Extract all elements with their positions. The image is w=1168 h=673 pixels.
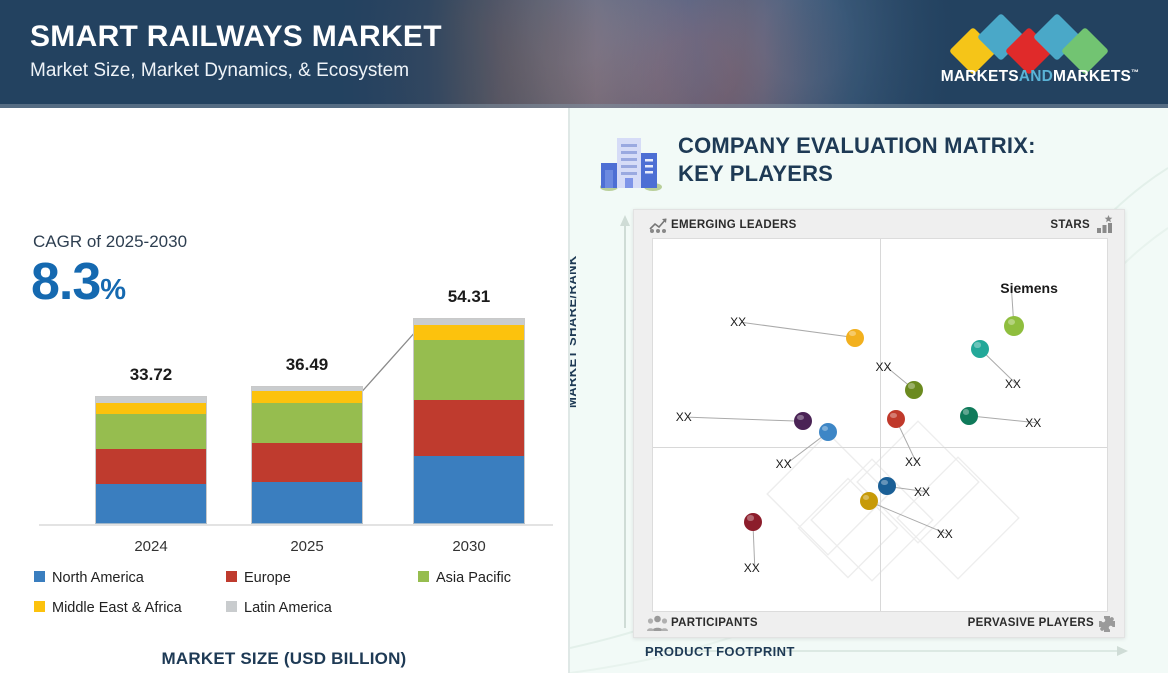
matrix-point-unnamed-8[interactable] [887,410,905,428]
legend-item-middle-east-africa[interactable]: Middle East & Africa [34,600,182,616]
matrix-x-axis-label: PRODUCT FOOTPRINT [645,644,795,659]
legend-item-asia-pacific[interactable]: Asia Pacific [418,570,511,586]
infographic-page: SMART RAILWAYS MARKET Market Size, Marke… [0,0,1168,673]
matrix-point-label-unnamed-7: XX [776,457,792,471]
legend-label: Latin America [244,600,332,616]
matrix-point-label-unnamed-5: XX [1025,416,1041,430]
matrix-point-unnamed-9[interactable] [878,477,896,495]
legend-item-latin-america[interactable]: Latin America [226,600,332,616]
bar-x-label-2024: 2024 [95,538,207,555]
quadrant-label-emerging-leaders: EMERGING LEADERS [671,219,797,231]
quadrant-label-participants: PARTICIPANTS [671,617,758,629]
growth-chart-people-icon [648,216,668,234]
bar-x-label-2030: 2030 [413,538,525,555]
matrix-point-unnamed-3[interactable] [971,340,989,358]
matrix-point-unnamed-5[interactable] [960,407,978,425]
matrix-point-siemens[interactable] [1004,316,1024,336]
legend-label: North America [52,570,144,586]
logo-wordmark: MARKETSANDMARKETS™ [940,68,1140,86]
legend-swatch [418,571,429,582]
marketsandmarkets-logo[interactable]: MARKETSANDMARKETS™ [940,12,1140,92]
bar-segment-north-america [95,484,207,524]
bar-2025 [251,386,363,524]
bar-x-label-2025: 2025 [251,538,363,555]
logo-text-markets-b: MARKETS [1053,68,1131,85]
matrix-point-unnamed-6[interactable] [794,412,812,430]
bar-segment-europe [251,443,363,482]
matrix-point-label-unnamed-1: XX [730,315,746,329]
quadrant-label-pervasive-players: PERVASIVE PLAYERS [968,617,1094,629]
matrix-title-line2: KEY PLAYERS [678,160,1148,188]
bar-total-label-2025: 36.49 [232,355,382,375]
logo-trademark: ™ [1131,68,1139,77]
matrix-points-layer: XXSiemensXXXXXXXXXXXXXXXXXX [653,239,1107,611]
bar-segment-europe [413,400,525,456]
legend-item-europe[interactable]: Europe [226,570,291,586]
right-panel: COMPANY EVALUATION MATRIX: KEY PLAYERS M… [570,108,1168,673]
matrix-title-line1: COMPANY EVALUATION MATRIX: [678,132,1148,160]
matrix-point-unnamed-4[interactable] [905,381,923,399]
matrix-title: COMPANY EVALUATION MATRIX: KEY PLAYERS [678,132,1148,188]
quadrant-label-stars: STARS [1050,219,1090,231]
bar-segment-middle-east-africa [95,403,207,415]
page-subtitle: Market Size, Market Dynamics, & Ecosyste… [30,60,409,82]
bar-2030 [413,318,525,524]
market-size-title: MARKET SIZE (USD BILLION) [0,649,568,669]
bar-segment-north-america [251,482,363,524]
matrix-point-unnamed-11[interactable] [744,513,762,531]
bar-total-label-2030: 54.31 [394,287,544,307]
bar-segment-asia-pacific [251,403,363,442]
header-background-photo [330,0,1030,108]
logo-text-and: AND [1019,68,1053,85]
y-axis-arrow-icon [618,213,632,633]
matrix-point-unnamed-1[interactable] [846,329,864,347]
matrix-point-label-unnamed-10: XX [937,527,953,541]
evaluation-matrix: EMERGING LEADERS STARS PARTICIPANTS [633,209,1125,638]
left-panel: CAGR of 2025-2030 8.3% 33.72202436.49202… [0,108,568,673]
matrix-y-axis-label: MARKET SHARE/RANK [570,255,579,408]
people-group-icon [647,615,668,632]
legend-swatch [34,601,45,612]
page-title: SMART RAILWAYS MARKET [30,20,442,54]
legend-label: Asia Pacific [436,570,511,586]
legend-label: Europe [244,570,291,586]
bar-segment-asia-pacific [413,340,525,400]
bar-segment-asia-pacific [95,414,207,449]
matrix-point-label-siemens: Siemens [1000,280,1058,296]
logo-text-markets-a: MARKETS [941,68,1019,85]
bar-segment-north-america [413,456,525,524]
matrix-plot-area: XXSiemensXXXXXXXXXXXXXXXXXX [652,238,1108,612]
chart-baseline [39,524,553,526]
matrix-point-unnamed-10[interactable] [860,492,878,510]
bar-2024 [95,396,207,524]
market-size-bar-chart: 33.72202436.49202554.312030 [33,288,553,563]
page-header: SMART RAILWAYS MARKET Market Size, Marke… [0,0,1168,108]
puzzle-piece-icon [1098,615,1116,632]
matrix-point-label-unnamed-11: XX [744,561,760,575]
legend-swatch [34,571,45,582]
bar-segment-latin-america [413,318,525,325]
legend-label: Middle East & Africa [52,600,182,616]
legend-item-north-america[interactable]: North America [34,570,144,586]
legend-swatch [226,571,237,582]
matrix-point-label-unnamed-3: XX [1005,377,1021,391]
bar-segment-middle-east-africa [251,391,363,403]
matrix-point-label-unnamed-8: XX [905,455,921,469]
matrix-point-label-unnamed-6: XX [676,410,692,424]
legend-swatch [226,601,237,612]
star-bars-icon [1094,215,1114,234]
matrix-point-label-unnamed-4: XX [875,360,891,374]
bar-segment-europe [95,449,207,484]
matrix-point-unnamed-7[interactable] [819,423,837,441]
office-building-icon [595,130,665,192]
bar-total-label-2024: 33.72 [76,365,226,385]
cagr-label: CAGR of 2025-2030 [33,232,187,252]
matrix-point-label-unnamed-9: XX [914,485,930,499]
bar-segment-middle-east-africa [413,325,525,340]
